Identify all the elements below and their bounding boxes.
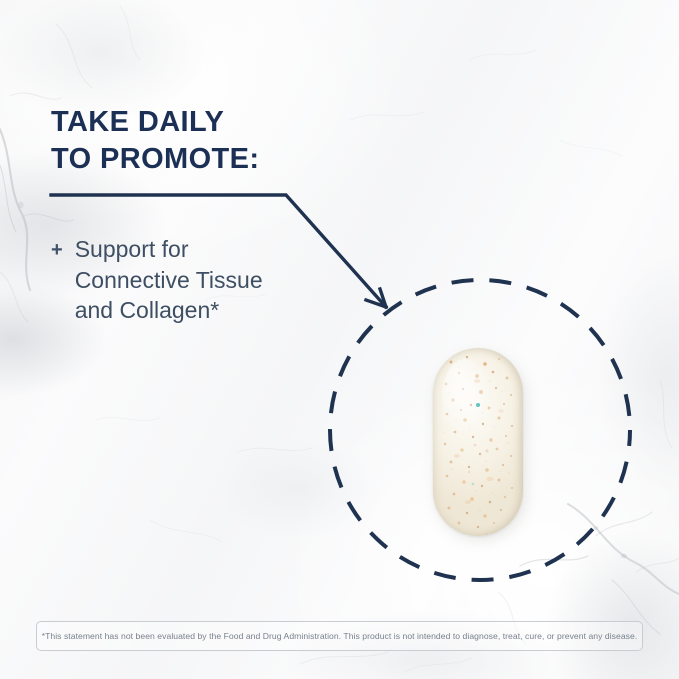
benefit-list-item: + Support for Connective Tissue and Coll… [51,234,263,326]
disclaimer-box: *This statement has not been evaluated b… [36,621,643,651]
benefit-label: Support for Connective Tissue and Collag… [75,234,263,326]
tablet-body [433,348,523,536]
tablet-highlight [442,359,489,434]
disclaimer-text: *This statement has not been evaluated b… [42,631,638,641]
supplement-tablet-icon [433,348,523,536]
product-benefit-graphic: TAKE DAILY TO PROMOTE: + Support for Con… [0,0,679,679]
plus-icon: + [51,234,63,260]
